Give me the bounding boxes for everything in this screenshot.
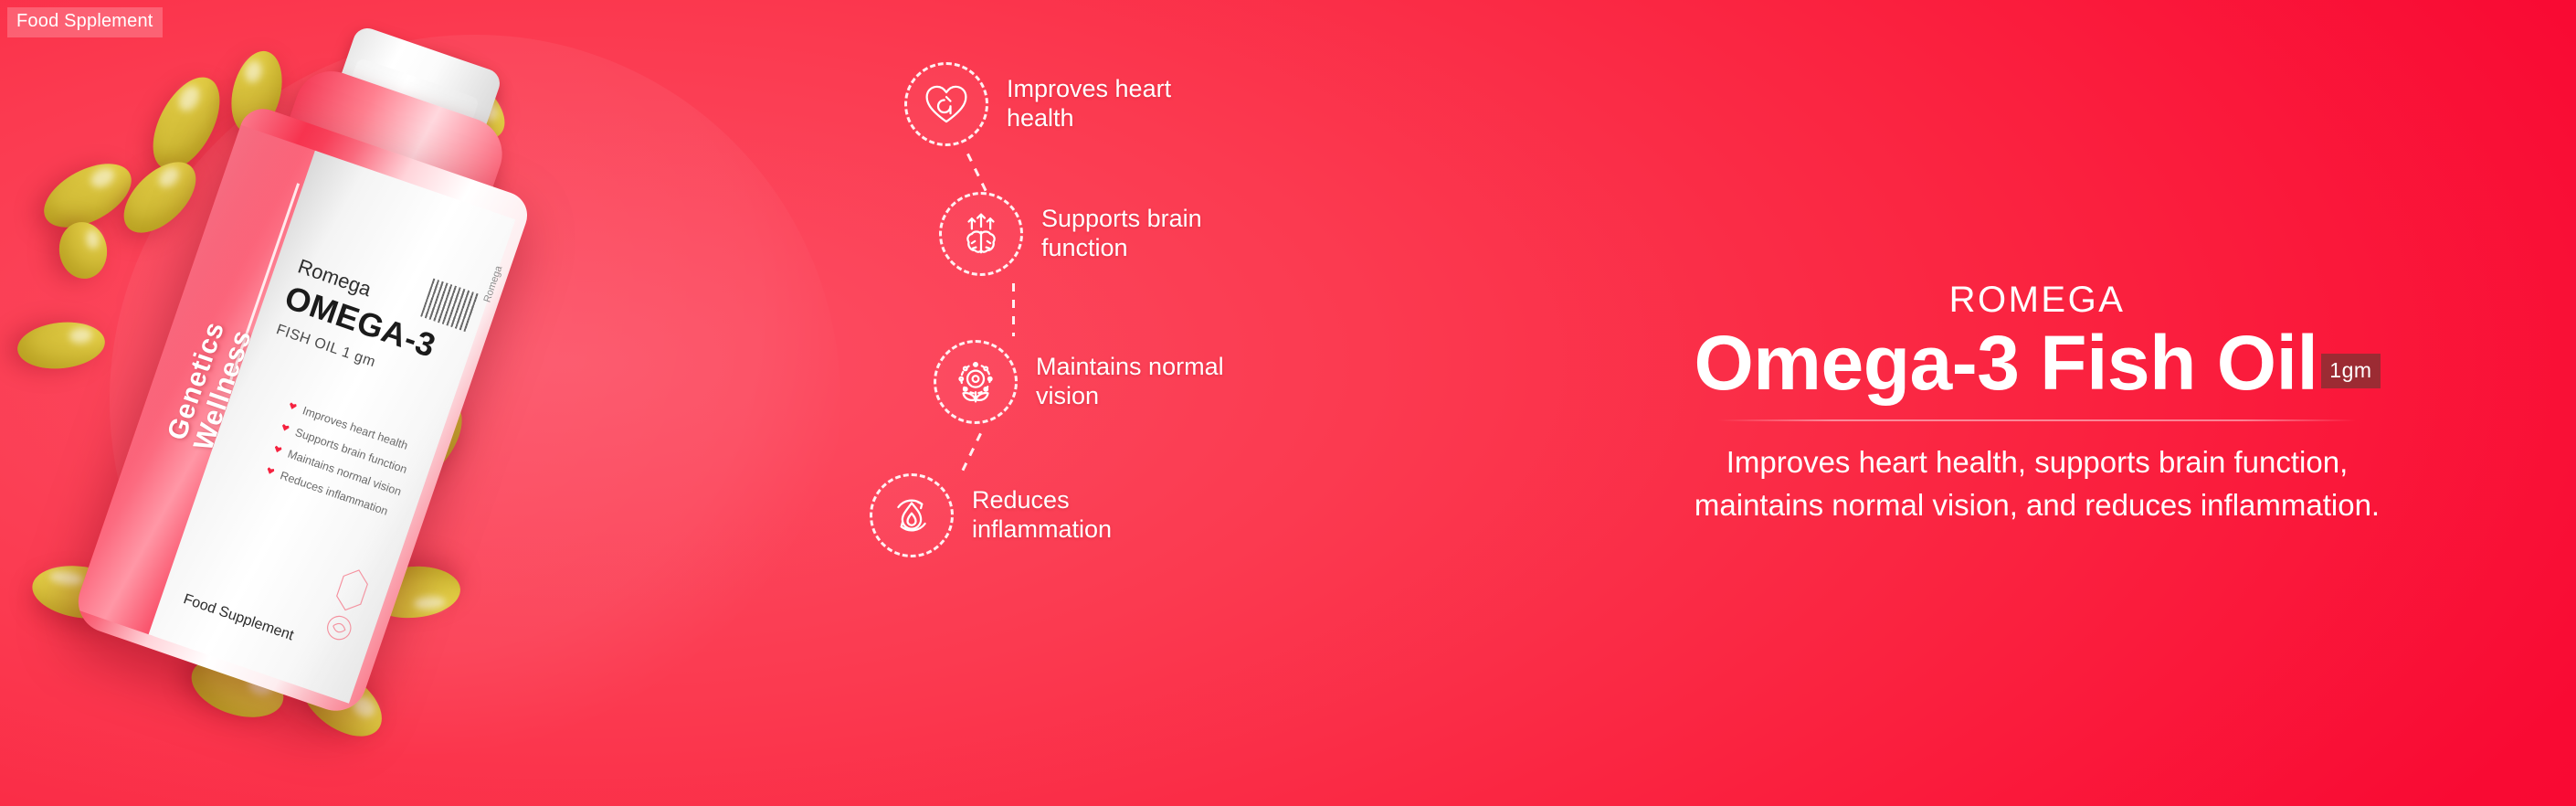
brain-icon xyxy=(939,192,1023,276)
benefit-label: Improves heart health xyxy=(1007,75,1235,133)
category-tag: Food Spplement xyxy=(7,7,163,37)
connector-line xyxy=(1012,283,1015,336)
connector-line xyxy=(966,154,987,193)
product-photo-area: Genetics Wellness Romega Romega OMEGA-3 … xyxy=(0,0,913,806)
brand-eyebrow: ROMEGA xyxy=(1949,280,2126,321)
heart-icon xyxy=(904,62,988,146)
benefit-label: Reduces inflammation xyxy=(972,486,1200,545)
capsule xyxy=(56,219,111,282)
headline-row: Omega-3 Fish Oil 1gm xyxy=(1694,323,2380,403)
dose-badge: 1gm xyxy=(2321,354,2380,388)
certification-mark-icon xyxy=(313,559,380,652)
label-footer-text: Food Supplement xyxy=(181,591,295,644)
benefit-label: Maintains normal vision xyxy=(1036,353,1264,411)
benefit-item-inflammation: Reduces inflammation xyxy=(870,473,1200,557)
marketing-copy: ROMEGA Omega-3 Fish Oil 1gm Improves hea… xyxy=(1498,0,2576,806)
barcode-icon xyxy=(420,279,480,333)
label-benefit-list: Improves heart health Supports brain fun… xyxy=(227,387,429,534)
benefit-item-heart: Improves heart health xyxy=(904,62,1235,146)
vision-icon xyxy=(934,340,1018,424)
page-title: Omega-3 Fish Oil xyxy=(1694,323,2317,403)
bottle-side-text: Romega xyxy=(481,264,504,303)
product-banner: Genetics Wellness Romega Romega OMEGA-3 … xyxy=(0,0,2576,806)
benefit-list: Improves heart health Supports brain fun… xyxy=(904,55,1471,777)
divider xyxy=(1717,419,2357,421)
product-description: Improves heart health, supports brain fu… xyxy=(1690,441,2384,527)
capsule xyxy=(16,318,108,373)
connector-line xyxy=(961,433,982,472)
flame-icon xyxy=(870,473,954,557)
benefit-label: Supports brain function xyxy=(1041,205,1270,263)
benefit-item-brain: Supports brain function xyxy=(939,192,1270,276)
benefit-item-vision: Maintains normal vision xyxy=(934,340,1264,424)
